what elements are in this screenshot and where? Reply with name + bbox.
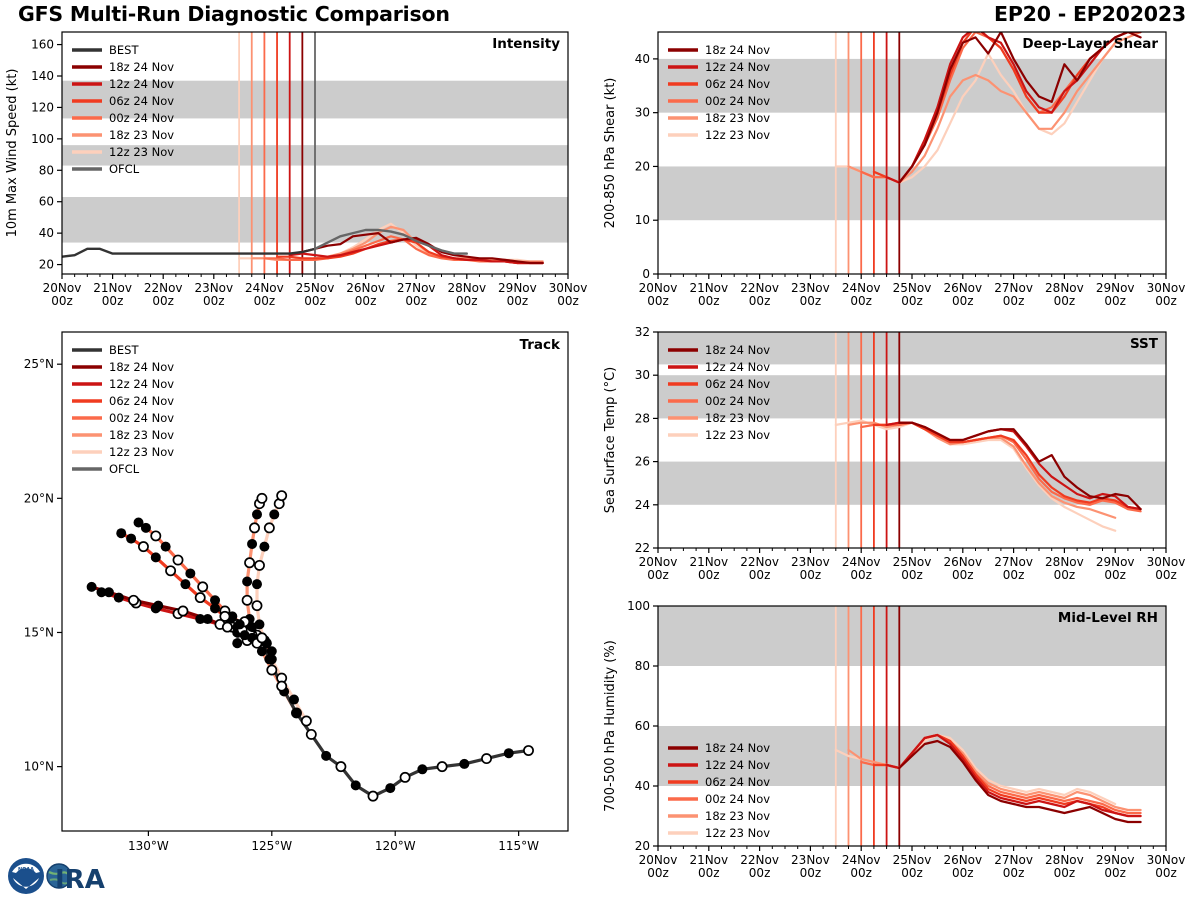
legend-label-ofcl: OFCL <box>109 462 140 476</box>
x-tick-label-hour: 00z <box>1003 866 1025 880</box>
legend-label-r00z24: 00z 24 Nov <box>705 394 770 408</box>
legend-label-r18z23: 18z 23 Nov <box>109 128 174 142</box>
x-tick-label-day: 22Nov <box>740 555 779 569</box>
x-tick-label-hour: 00z <box>698 568 720 582</box>
panel-title: Mid-Level RH <box>1058 610 1158 626</box>
x-tick-label: 125°W <box>251 839 292 853</box>
legend-label-r18z24: 18z 24 Nov <box>705 43 770 57</box>
track-marker-00z <box>203 614 213 624</box>
x-tick-label-day: 22Nov <box>144 281 183 295</box>
legend-label-r12z23: 12z 23 Nov <box>705 826 770 840</box>
y-tick-label: 40 <box>39 226 54 240</box>
track-marker-00z <box>104 587 114 597</box>
legend-label-r18z24: 18z 24 Nov <box>109 360 174 374</box>
track-marker-00z <box>151 552 161 562</box>
legend-label-r06z24: 06z 24 Nov <box>705 77 770 91</box>
y-axis-label: 200-850 hPa Shear (kt) <box>603 78 618 229</box>
x-tick-label-hour: 00z <box>254 294 276 308</box>
legend-label-r18z24: 18z 24 Nov <box>109 60 174 74</box>
shaded-band <box>658 166 1166 220</box>
track-marker-00z <box>153 601 163 611</box>
track-marker-12z <box>368 792 377 801</box>
panel-title: Deep-Layer Shear <box>1022 36 1158 52</box>
x-tick-label-hour: 00z <box>749 866 771 880</box>
x-tick-label-day: 28Nov <box>1045 853 1084 867</box>
track-marker-00z <box>232 638 242 648</box>
panel-title: Intensity <box>492 36 560 52</box>
track-marker-12z <box>400 773 409 782</box>
y-tick-label: 60 <box>635 719 650 733</box>
y-tick-label: 60 <box>39 195 54 209</box>
x-tick-label-day: 28Nov <box>1045 281 1084 295</box>
x-tick-label-day: 22Nov <box>740 853 779 867</box>
y-tick-label: 120 <box>31 100 54 114</box>
legend-label-r06z24: 06z 24 Nov <box>705 775 770 789</box>
x-tick-label-hour: 00z <box>647 568 669 582</box>
x-tick-label-hour: 00z <box>901 294 923 308</box>
x-tick-label-day: 21Nov <box>689 281 728 295</box>
x-tick-label-day: 27Nov <box>994 555 1033 569</box>
track-marker-00z <box>385 783 395 793</box>
diagnostic-page: GFS Multi-Run Diagnostic Comparison EP20… <box>0 0 1200 900</box>
y-tick-label: 100 <box>627 600 650 613</box>
x-tick-label-hour: 00z <box>557 294 579 308</box>
x-tick-label: 115°W <box>498 839 539 853</box>
x-tick-label-hour: 00z <box>749 294 771 308</box>
x-tick-label-day: 28Nov <box>447 281 486 295</box>
panel-track: 10°N15°N20°N25°N130°W125°W120°W115°WTrac… <box>0 326 598 871</box>
x-tick-label-hour: 00z <box>1054 866 1076 880</box>
x-tick-label-hour: 00z <box>1155 866 1177 880</box>
track-marker-12z <box>524 746 533 755</box>
x-tick-label-hour: 00z <box>203 294 225 308</box>
track-marker-12z <box>277 491 286 500</box>
x-tick-label-hour: 00z <box>456 294 478 308</box>
track-marker-00z <box>134 517 144 527</box>
legend-label-r06z24: 06z 24 Nov <box>705 377 770 391</box>
legend-label-r18z23: 18z 23 Nov <box>109 428 174 442</box>
x-tick-label-hour: 00z <box>1003 568 1025 582</box>
x-tick-label-hour: 00z <box>749 568 771 582</box>
track-marker-12z <box>252 601 261 610</box>
track-marker-00z <box>247 539 257 549</box>
x-tick-label-day: 26Nov <box>943 555 982 569</box>
x-tick-label-hour: 00z <box>901 568 923 582</box>
track-marker-12z <box>129 596 138 605</box>
x-tick-label-day: 21Nov <box>689 555 728 569</box>
x-tick-label-day: 21Nov <box>689 853 728 867</box>
track-marker-00z <box>185 568 195 578</box>
cira-noaa-logo: NOAA IRA <box>6 856 138 898</box>
y-tick-label: 15°N <box>24 625 54 639</box>
x-tick-label: 130°W <box>128 839 169 853</box>
track-marker-00z <box>459 759 469 769</box>
track-marker-12z <box>198 582 207 591</box>
track-marker-12z <box>243 596 252 605</box>
track-marker-00z <box>269 509 279 519</box>
track-marker-12z <box>267 665 276 674</box>
legend-label-r12z23: 12z 23 Nov <box>109 445 174 459</box>
x-tick-label: 120°W <box>375 839 416 853</box>
legend-label-r12z24: 12z 24 Nov <box>705 360 770 374</box>
track-marker-00z <box>321 751 331 761</box>
x-tick-label-day: 29Nov <box>1096 853 1135 867</box>
legend-label-ofcl: OFCL <box>109 162 140 176</box>
track-marker-00z <box>417 764 427 774</box>
svg-text:NOAA: NOAA <box>18 867 34 873</box>
track-marker-12z <box>265 523 274 532</box>
y-tick-label: 30 <box>635 368 650 382</box>
y-tick-label: 10°N <box>24 760 54 774</box>
legend-label-r00z24: 00z 24 Nov <box>705 792 770 806</box>
track-marker-12z <box>166 566 175 575</box>
x-tick-label-hour: 00z <box>850 866 872 880</box>
track-marker-00z <box>180 579 190 589</box>
track-marker-12z <box>173 555 182 564</box>
x-tick-label-day: 30Nov <box>1147 555 1186 569</box>
x-tick-label-hour: 00z <box>1054 568 1076 582</box>
track-marker-00z <box>504 748 514 758</box>
x-tick-label-hour: 00z <box>1003 294 1025 308</box>
x-tick-label-hour: 00z <box>800 568 822 582</box>
y-tick-label: 20 <box>39 258 54 272</box>
legend-label-r06z24: 06z 24 Nov <box>109 94 174 108</box>
legend-label-r12z24: 12z 24 Nov <box>109 77 174 91</box>
x-tick-label-day: 25Nov <box>296 281 335 295</box>
x-tick-label-hour: 00z <box>850 568 872 582</box>
y-axis-label: 10m Max Wind Speed (kt) <box>5 69 20 238</box>
legend-label-r00z24: 00z 24 Nov <box>109 411 174 425</box>
y-tick-label: 24 <box>635 498 650 512</box>
y-tick-label: 20°N <box>24 491 54 505</box>
x-tick-label-day: 26Nov <box>346 281 385 295</box>
x-tick-label-day: 24Nov <box>842 555 881 569</box>
track-marker-00z <box>240 630 250 640</box>
track-marker-00z <box>210 603 220 613</box>
x-tick-label-hour: 00z <box>647 294 669 308</box>
track-marker-12z <box>307 730 316 739</box>
x-tick-label-hour: 00z <box>355 294 377 308</box>
x-tick-label-day: 28Nov <box>1045 555 1084 569</box>
x-tick-label-hour: 00z <box>1155 294 1177 308</box>
y-tick-label: 32 <box>635 326 650 339</box>
x-tick-label-day: 26Nov <box>943 853 982 867</box>
track-marker-00z <box>161 542 171 552</box>
x-tick-label-day: 27Nov <box>994 281 1033 295</box>
track-marker-12z <box>178 606 187 615</box>
track-marker-12z <box>196 593 205 602</box>
legend-label-r12z23: 12z 23 Nov <box>705 428 770 442</box>
track-marker-12z <box>245 558 254 567</box>
legend-label-best: BEST <box>109 343 139 357</box>
x-tick-label-day: 27Nov <box>397 281 436 295</box>
track-marker-12z <box>255 561 264 570</box>
track-marker-00z <box>87 582 97 592</box>
y-tick-label: 22 <box>635 541 650 555</box>
x-tick-label-hour: 00z <box>304 294 326 308</box>
track-marker-12z <box>139 542 148 551</box>
page-title-left: GFS Multi-Run Diagnostic Comparison <box>18 2 450 26</box>
x-tick-label-hour: 00z <box>901 866 923 880</box>
x-tick-label-day: 25Nov <box>893 853 932 867</box>
x-tick-label-hour: 00z <box>647 866 669 880</box>
x-tick-label-day: 20Nov <box>639 555 678 569</box>
x-tick-label-hour: 00z <box>405 294 427 308</box>
panel-title: Track <box>520 337 561 353</box>
track-marker-00z <box>252 579 262 589</box>
x-tick-label-hour: 00z <box>1054 294 1076 308</box>
x-tick-label-day: 30Nov <box>549 281 588 295</box>
x-tick-label-day: 26Nov <box>943 281 982 295</box>
x-tick-label-hour: 00z <box>952 568 974 582</box>
panel-deep-layer-shear: 01020304020Nov00z21Nov00z22Nov00z23Nov00… <box>598 26 1198 326</box>
track-marker-00z <box>351 780 361 790</box>
x-tick-label-day: 20Nov <box>43 281 82 295</box>
legend-label-r06z24: 06z 24 Nov <box>109 394 174 408</box>
legend-label-r12z23: 12z 23 Nov <box>705 128 770 142</box>
y-tick-label: 160 <box>31 38 54 52</box>
y-tick-label: 140 <box>31 69 54 83</box>
legend-label-r18z23: 18z 23 Nov <box>705 411 770 425</box>
page-title-right: EP20 - EP202023 <box>994 2 1186 26</box>
y-tick-label: 28 <box>635 411 650 425</box>
x-tick-label-day: 23Nov <box>791 853 830 867</box>
x-tick-label-hour: 00z <box>1104 866 1126 880</box>
x-tick-label-hour: 00z <box>698 866 720 880</box>
y-tick-label: 80 <box>635 659 650 673</box>
x-tick-label-day: 24Nov <box>842 281 881 295</box>
x-tick-label-hour: 00z <box>1104 568 1126 582</box>
x-tick-label-day: 23Nov <box>194 281 233 295</box>
legend-label-r12z23: 12z 23 Nov <box>109 145 174 159</box>
track-marker-00z <box>242 577 252 587</box>
x-tick-label-hour: 00z <box>507 294 529 308</box>
y-tick-label: 20 <box>635 839 650 853</box>
track-marker-00z <box>114 593 124 603</box>
x-tick-label-day: 21Nov <box>93 281 132 295</box>
track-marker-12z <box>277 682 286 691</box>
x-tick-label-hour: 00z <box>850 294 872 308</box>
legend-label-r00z24: 00z 24 Nov <box>109 111 174 125</box>
x-tick-label-hour: 00z <box>952 866 974 880</box>
legend-label-r12z24: 12z 24 Nov <box>705 758 770 772</box>
legend-label-best: BEST <box>109 43 139 57</box>
x-tick-label-day: 23Nov <box>791 281 830 295</box>
x-tick-label-day: 20Nov <box>639 853 678 867</box>
x-tick-label-day: 25Nov <box>893 281 932 295</box>
x-tick-label-day: 29Nov <box>1096 555 1135 569</box>
y-tick-label: 26 <box>635 455 650 469</box>
x-tick-label-day: 24Nov <box>842 853 881 867</box>
legend-label-r00z24: 00z 24 Nov <box>705 94 770 108</box>
track-marker-00z <box>264 654 274 664</box>
panel-title: SST <box>1130 336 1159 352</box>
track-marker-00z <box>289 695 299 705</box>
track-marker-12z <box>482 754 491 763</box>
x-tick-label-day: 20Nov <box>639 281 678 295</box>
legend-label-r12z24: 12z 24 Nov <box>109 377 174 391</box>
track-marker-00z <box>235 619 245 629</box>
track-marker-00z <box>259 542 269 552</box>
x-tick-label-day: 25Nov <box>893 555 932 569</box>
track-marker-12z <box>257 633 266 642</box>
x-tick-label-day: 30Nov <box>1147 853 1186 867</box>
y-axis-label: Sea Surface Temp (°C) <box>603 367 618 514</box>
x-tick-label-day: 29Nov <box>498 281 537 295</box>
x-tick-label-hour: 00z <box>952 294 974 308</box>
track-marker-12z <box>250 523 259 532</box>
y-tick-label: 30 <box>635 106 650 120</box>
y-tick-label: 40 <box>635 779 650 793</box>
x-tick-label-hour: 00z <box>800 294 822 308</box>
track-marker-00z <box>126 534 136 544</box>
x-tick-label-day: 27Nov <box>994 853 1033 867</box>
track-marker-12z <box>223 623 232 632</box>
x-tick-label-hour: 00z <box>1155 568 1177 582</box>
legend-label-r18z24: 18z 24 Nov <box>705 741 770 755</box>
y-tick-label: 80 <box>39 163 54 177</box>
legend-label-r18z23: 18z 23 Nov <box>705 809 770 823</box>
noaa-emblem-icon: NOAA <box>8 858 44 894</box>
y-tick-label: 10 <box>635 213 650 227</box>
y-tick-label: 0 <box>642 267 650 281</box>
track-marker-12z <box>302 716 311 725</box>
cira-wordmark: IRA <box>47 864 126 895</box>
x-tick-label-hour: 00z <box>1104 294 1126 308</box>
track-marker-00z <box>116 528 126 538</box>
x-tick-label-day: 23Nov <box>791 555 830 569</box>
x-tick-label-hour: 00z <box>51 294 73 308</box>
x-tick-label-day: 29Nov <box>1096 281 1135 295</box>
panel-mid-level-rh: 2040608010020Nov00z21Nov00z22Nov00z23Nov… <box>598 600 1198 898</box>
panel-sst: 22242628303220Nov00z21Nov00z22Nov00z23No… <box>598 326 1198 600</box>
x-tick-label-hour: 00z <box>152 294 174 308</box>
x-tick-label-day: 22Nov <box>740 281 779 295</box>
y-tick-label: 40 <box>635 52 650 66</box>
x-tick-label-hour: 00z <box>800 866 822 880</box>
track-marker-00z <box>291 708 301 718</box>
x-tick-label-day: 30Nov <box>1147 281 1186 295</box>
y-tick-label: 20 <box>635 159 650 173</box>
track-marker-12z <box>257 494 266 503</box>
legend-label-r12z24: 12z 24 Nov <box>705 60 770 74</box>
x-tick-label-hour: 00z <box>102 294 124 308</box>
track-marker-12z <box>336 762 345 771</box>
legend-label-r18z24: 18z 24 Nov <box>705 343 770 357</box>
y-tick-label: 25°N <box>24 357 54 371</box>
track-marker-00z <box>252 509 262 519</box>
legend-label-r18z23: 18z 23 Nov <box>705 111 770 125</box>
panel-intensity: 2040608010012014016020Nov00z21Nov00z22No… <box>0 26 598 326</box>
track-marker-12z <box>438 762 447 771</box>
y-tick-label: 100 <box>31 132 54 146</box>
track-marker-12z <box>151 531 160 540</box>
x-tick-label-day: 24Nov <box>245 281 284 295</box>
x-tick-label-hour: 00z <box>698 294 720 308</box>
y-axis-label: 700-500 hPa Humidity (%) <box>603 640 618 812</box>
svg-text:IRA: IRA <box>55 865 105 895</box>
